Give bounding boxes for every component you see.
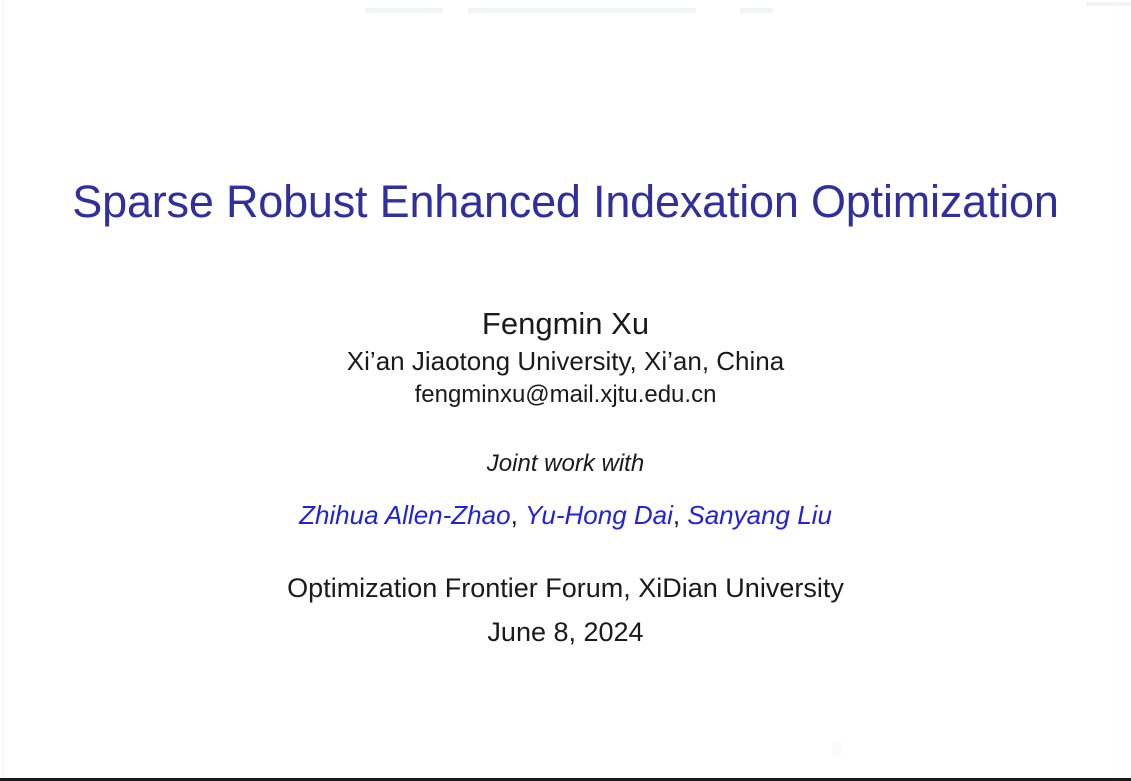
- venue-block: Optimization Frontier Forum, XiDian Univ…: [0, 572, 1131, 649]
- collaborator-name: Sanyang Liu: [687, 500, 832, 530]
- venue-name: Optimization Frontier Forum, XiDian Univ…: [0, 572, 1131, 604]
- slide-title: Sparse Robust Enhanced Indexation Optimi…: [0, 177, 1131, 227]
- joint-work-block: Joint work with Zhihua Allen-Zhao, Yu-Ho…: [0, 450, 1131, 531]
- collaborator-name: Zhihua Allen-Zhao: [299, 500, 511, 530]
- collaborator-list: Zhihua Allen-Zhao, Yu-Hong Dai, Sanyang …: [0, 500, 1131, 531]
- author-email: fengminxu@mail.xjtu.edu.cn: [0, 381, 1131, 410]
- joint-work-label: Joint work with: [0, 450, 1131, 479]
- collaborator-name: Yu-Hong Dai: [525, 500, 673, 530]
- collaborator-separator: ,: [511, 500, 525, 530]
- venue-date: June 8, 2024: [0, 616, 1131, 648]
- page-artifact-mark: [832, 742, 842, 756]
- slide-content: Sparse Robust Enhanced Indexation Optimi…: [0, 0, 1131, 781]
- collaborator-separator: ,: [673, 500, 687, 530]
- author-affiliation: Xi’an Jiaotong University, Xi’an, China: [0, 346, 1131, 377]
- author-block: Fengmin Xu Xi’an Jiaotong University, Xi…: [0, 306, 1131, 410]
- author-name: Fengmin Xu: [0, 306, 1131, 343]
- presentation-slide: Sparse Robust Enhanced Indexation Optimi…: [0, 0, 1131, 781]
